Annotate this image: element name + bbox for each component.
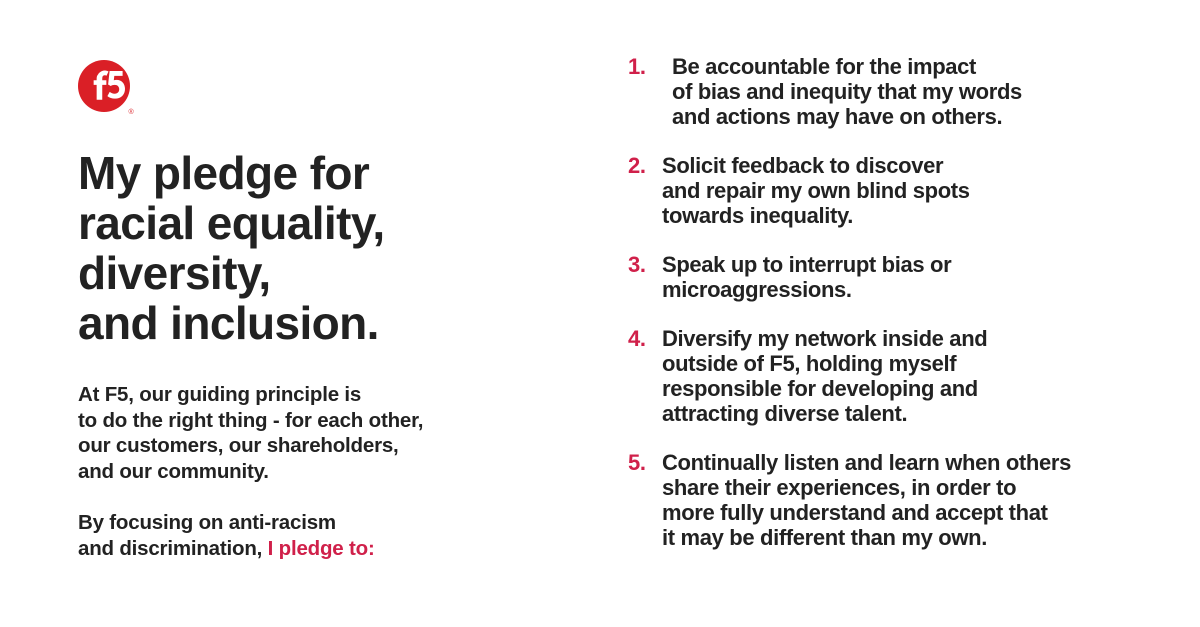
list-item-line: towards inequality.: [662, 203, 1168, 228]
list-item-number: 1.: [628, 54, 672, 79]
list-item: 1. Be accountable for the impact of bias…: [628, 54, 1168, 129]
list-item-line: Continually listen and learn when others: [662, 450, 1168, 475]
list-item-line: Diversify my network inside and: [662, 326, 1168, 351]
list-item-number: 3.: [628, 252, 662, 277]
headline-line: and inclusion.: [78, 298, 598, 348]
pledge-accent-text: I pledge to:: [268, 537, 375, 560]
list-item-line: share their experiences, in order to: [662, 475, 1168, 500]
list-item-number: 5.: [628, 450, 662, 475]
list-item-line: it may be different than my own.: [662, 525, 1168, 550]
list-item-line: and actions may have on others.: [672, 104, 1168, 129]
list-item-line: microaggressions.: [662, 277, 1168, 302]
paragraph-line-with-accent: and discrimination, I pledge to:: [78, 536, 598, 562]
guiding-principle-paragraph: At F5, our guiding principle is to do th…: [78, 382, 598, 484]
list-item: 4. Diversify my network inside and outsi…: [628, 326, 1168, 426]
list-item-number: 4.: [628, 326, 662, 351]
paragraph-line: and our community.: [78, 459, 598, 485]
pledge-list: 1. Be accountable for the impact of bias…: [628, 54, 1168, 550]
paragraph-line: At F5, our guiding principle is: [78, 382, 598, 408]
list-item-line: Speak up to interrupt bias or: [662, 252, 1168, 277]
paragraph-line-text: and discrimination,: [78, 537, 268, 560]
pledge-poster: ® My pledge for racial equality, diversi…: [0, 0, 1200, 627]
list-item-line: outside of F5, holding myself: [662, 351, 1168, 376]
list-item-line: attracting diverse talent.: [662, 401, 1168, 426]
list-item: 5. Continually listen and learn when oth…: [628, 450, 1168, 550]
list-item: 2. Solicit feedback to discover and repa…: [628, 153, 1168, 228]
list-item-line: responsible for developing and: [662, 376, 1168, 401]
pledge-intro-paragraph: By focusing on anti-racism and discrimin…: [78, 510, 598, 561]
list-item-line: of bias and inequity that my words: [672, 79, 1168, 104]
paragraph-line: By focusing on anti-racism: [78, 510, 598, 536]
list-item-line: Be accountable for the impact: [672, 54, 1168, 79]
page-title: My pledge for racial equality, diversity…: [78, 148, 598, 348]
paragraph-line: to do the right thing - for each other,: [78, 408, 598, 434]
list-item-line: and repair my own blind spots: [662, 178, 1168, 203]
headline-line: My pledge for: [78, 148, 598, 198]
list-item-text: Solicit feedback to discover and repair …: [662, 153, 1168, 228]
list-item-number: 2.: [628, 153, 662, 178]
left-column: ® My pledge for racial equality, diversi…: [78, 0, 598, 627]
f5-logo: ®: [78, 60, 136, 118]
list-item-text: Diversify my network inside and outside …: [662, 326, 1168, 426]
headline-line: diversity,: [78, 248, 598, 298]
list-item-line: Solicit feedback to discover: [662, 153, 1168, 178]
list-item: 3. Speak up to interrupt bias or microag…: [628, 252, 1168, 302]
list-item-text: Be accountable for the impact of bias an…: [672, 54, 1168, 129]
paragraph-line: our customers, our shareholders,: [78, 433, 598, 459]
list-item-line: more fully understand and accept that: [662, 500, 1168, 525]
headline-line: racial equality,: [78, 198, 598, 248]
list-item-text: Speak up to interrupt bias or microaggre…: [662, 252, 1168, 302]
registered-trademark-icon: ®: [129, 108, 135, 116]
list-item-text: Continually listen and learn when others…: [662, 450, 1168, 550]
